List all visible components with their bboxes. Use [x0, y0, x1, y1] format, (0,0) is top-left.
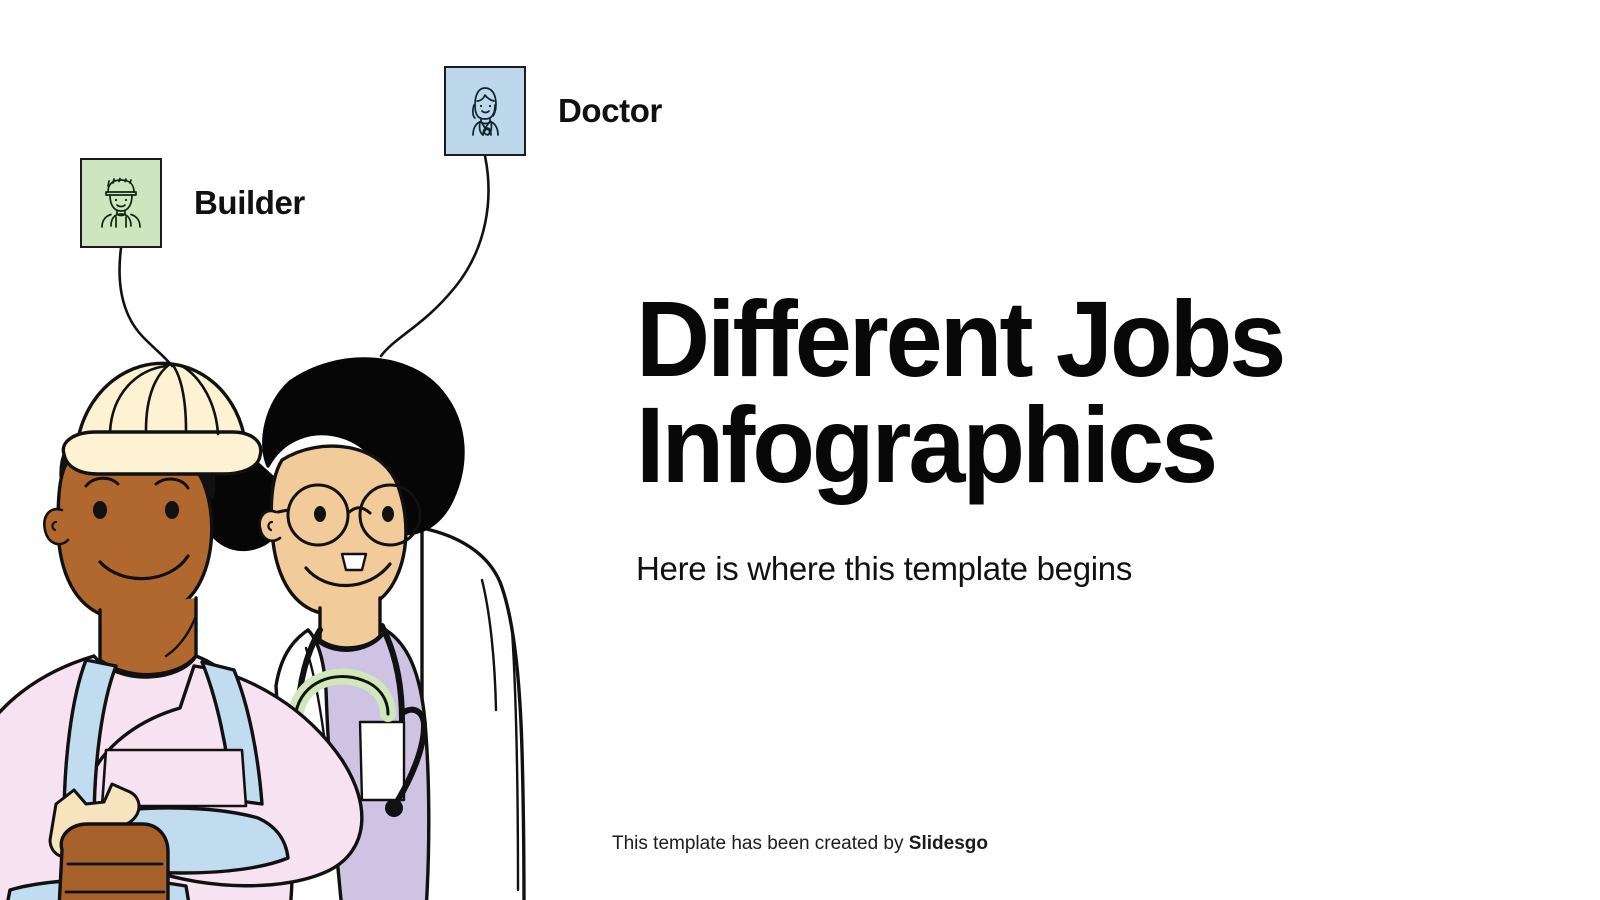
footer-credit-prefix: This template has been created by — [612, 833, 909, 854]
footer-brand-slidesgo[interactable]: Slidesgo — [909, 833, 988, 854]
job-label-builder: Builder — [194, 184, 305, 222]
builder-and-doctor-illustration — [0, 330, 560, 900]
job-label-doctor: Doctor — [558, 92, 662, 130]
title-block: Different Jobs Infographics Here is wher… — [636, 286, 1536, 588]
page-title-line-1: Different Jobs — [636, 286, 1491, 392]
slide-canvas: Builder — [0, 0, 1600, 900]
job-marker-doctor[interactable]: Doctor — [444, 66, 662, 156]
job-marker-builder[interactable]: Builder — [80, 158, 305, 248]
connector-line-doctor — [381, 156, 488, 356]
doctor-avatar-icon — [461, 85, 509, 137]
job-chip-builder[interactable] — [80, 158, 162, 248]
footer-credit: This template has been created by Slides… — [0, 833, 1600, 855]
builder-avatar-icon — [97, 177, 145, 229]
page-title-line-2: Infographics — [636, 392, 1491, 498]
connector-line-builder — [120, 248, 172, 366]
page-subtitle: Here is where this template begins — [636, 550, 1536, 588]
job-chip-doctor[interactable] — [444, 66, 526, 156]
page-title: Different Jobs Infographics — [636, 286, 1491, 498]
